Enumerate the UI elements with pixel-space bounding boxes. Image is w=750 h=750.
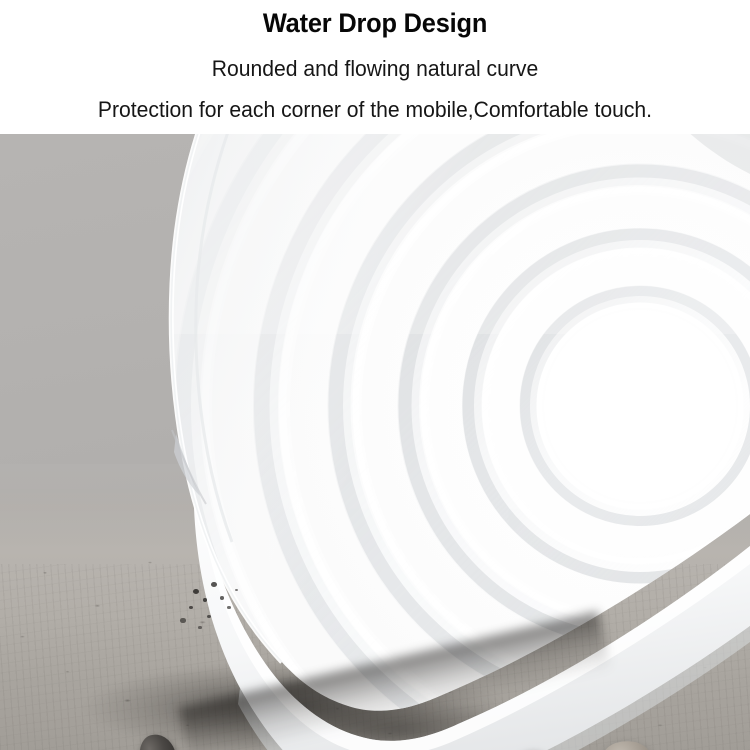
debris-speck	[180, 618, 185, 622]
product-marketing-image: Water Drop Design Rounded and flowing na…	[0, 0, 750, 750]
phone-case-illustration	[0, 134, 750, 750]
subtitle-line-2: Protection for each corner of the mobile…	[15, 99, 735, 121]
debris-speck	[220, 596, 224, 600]
page-title: Water Drop Design	[23, 10, 728, 37]
debris-speck	[235, 589, 238, 592]
product-photo	[0, 134, 750, 750]
debris-speck	[211, 582, 217, 587]
debris-speck	[198, 626, 201, 629]
debris-speck	[227, 606, 230, 609]
debris-speck	[203, 598, 208, 602]
phone-case	[0, 134, 750, 750]
subtitle-line-1: Rounded and flowing natural curve	[15, 58, 735, 80]
header-text-block: Water Drop Design Rounded and flowing na…	[0, 0, 750, 134]
